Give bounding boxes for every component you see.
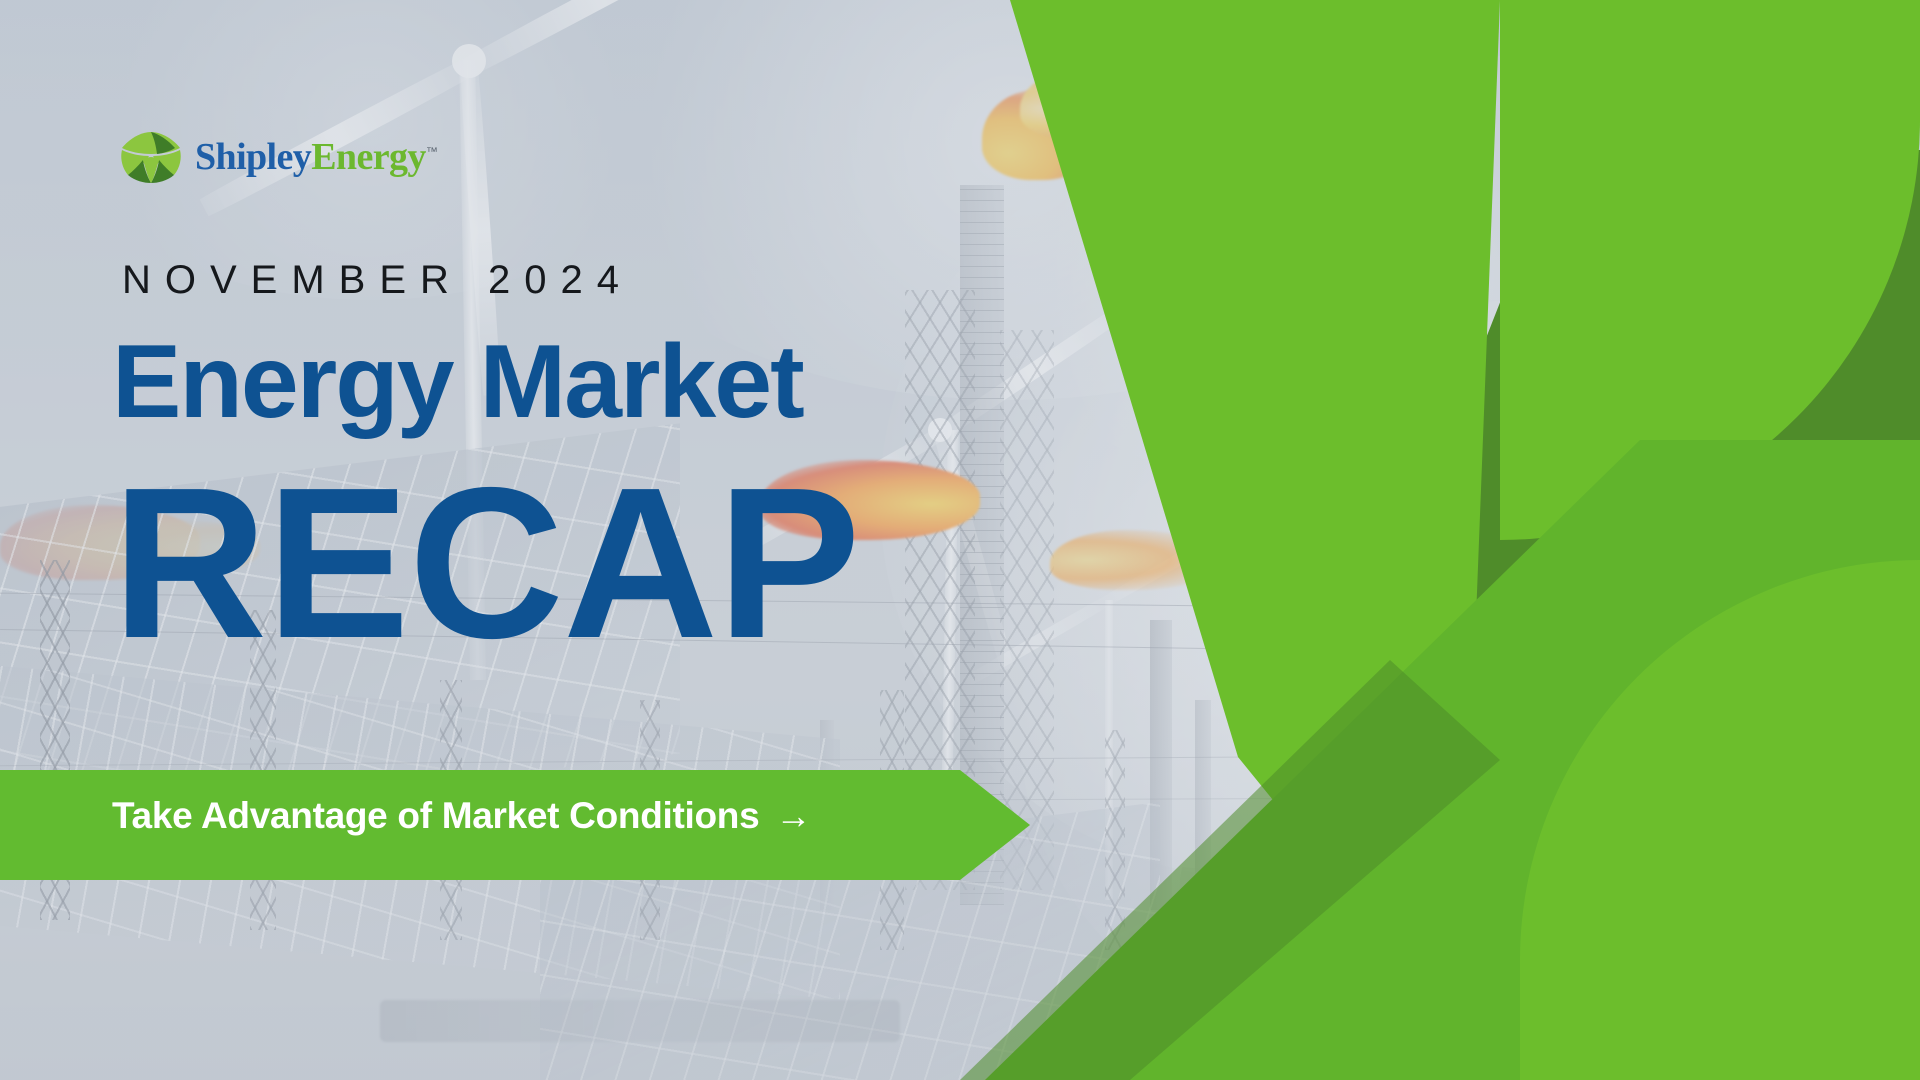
logo-trademark: ™ bbox=[426, 144, 437, 158]
arrow-right-icon: → bbox=[775, 798, 811, 834]
eyebrow-date: NOVEMBER 2024 bbox=[122, 258, 633, 303]
logo-name-energy: Energy bbox=[311, 136, 426, 178]
logo-wordmark: ShipleyEnergy™ bbox=[195, 138, 437, 176]
shipley-energy-logo[interactable]: ShipleyEnergy™ bbox=[118, 130, 437, 184]
logo-name-shipley: Shipley bbox=[195, 136, 311, 178]
energy-market-recap-banner: ShipleyEnergy™ NOVEMBER 2024 Energy Mark… bbox=[0, 0, 1920, 1080]
headline-energy-market: Energy Market bbox=[112, 330, 803, 434]
shipley-leaf-mark-icon bbox=[118, 130, 184, 184]
mega-title-recap: RECAP bbox=[112, 455, 860, 670]
cta-link[interactable]: Take Advantage of Market Conditions → bbox=[112, 795, 811, 837]
content-layer: ShipleyEnergy™ NOVEMBER 2024 Energy Mark… bbox=[0, 0, 1920, 1080]
cta-label: Take Advantage of Market Conditions bbox=[112, 795, 759, 837]
